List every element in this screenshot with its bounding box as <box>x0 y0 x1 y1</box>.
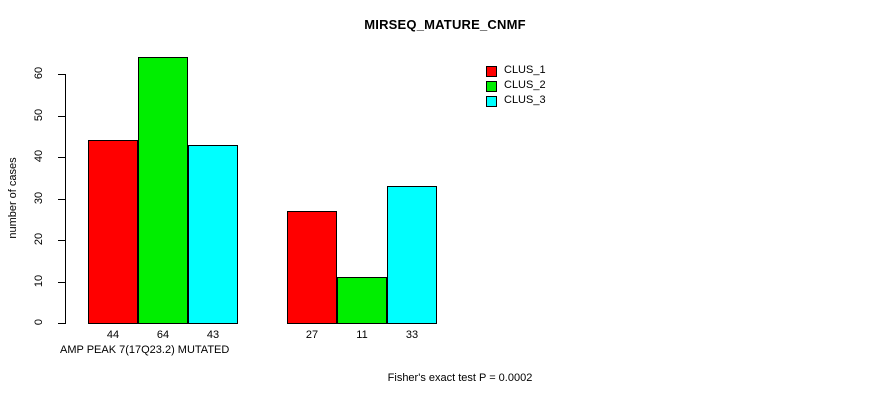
legend-swatch-icon <box>486 66 497 77</box>
y-axis-tick <box>58 282 65 283</box>
bar-clus_3-group2 <box>387 186 437 324</box>
chart-canvas: MIRSEQ_MATURE_CNMF 0102030405060 number … <box>0 0 890 400</box>
y-axis-title: number of cases <box>7 133 19 263</box>
bar-clus_1-group2 <box>287 211 337 324</box>
chart-title: MIRSEQ_MATURE_CNMF <box>0 17 890 32</box>
legend-swatch-icon <box>486 96 497 107</box>
x-axis-group-label: AMP PEAK 7(17Q23.2) MUTATED <box>60 344 229 356</box>
y-axis-line <box>65 74 66 324</box>
bar-value-label: 27 <box>287 329 337 341</box>
bar-clus_2-group2 <box>337 277 387 324</box>
bar-clus_1-group1 <box>88 140 138 324</box>
y-axis-tick <box>58 199 65 200</box>
y-axis-tick <box>58 323 65 324</box>
y-axis-tick <box>58 116 65 117</box>
bar-value-label: 44 <box>88 329 138 341</box>
fisher-test-annotation: Fisher's exact test P = 0.0002 <box>250 372 670 384</box>
legend-item-label: CLUS_3 <box>504 94 546 106</box>
y-axis-tick-label: 60 <box>33 58 45 88</box>
bar-value-label: 33 <box>387 329 437 341</box>
y-axis-tick-label: 20 <box>33 224 45 254</box>
bar-clus_3-group1 <box>188 145 238 324</box>
legend-swatch-icon <box>486 81 497 92</box>
y-axis-tick-label: 10 <box>33 266 45 296</box>
y-axis-tick <box>58 157 65 158</box>
bar-value-label: 11 <box>337 329 387 341</box>
y-axis-tick-label: 40 <box>33 141 45 171</box>
y-axis-tick-label: 30 <box>33 183 45 213</box>
bar-value-label: 43 <box>188 329 238 341</box>
y-axis-tick-label: 0 <box>33 307 45 337</box>
y-axis-tick <box>58 240 65 241</box>
y-axis-tick-label: 50 <box>33 100 45 130</box>
y-axis-tick <box>58 74 65 75</box>
legend-item-label: CLUS_1 <box>504 64 546 76</box>
legend-item-label: CLUS_2 <box>504 79 546 91</box>
bar-value-label: 64 <box>138 329 188 341</box>
bar-clus_2-group1 <box>138 57 188 324</box>
